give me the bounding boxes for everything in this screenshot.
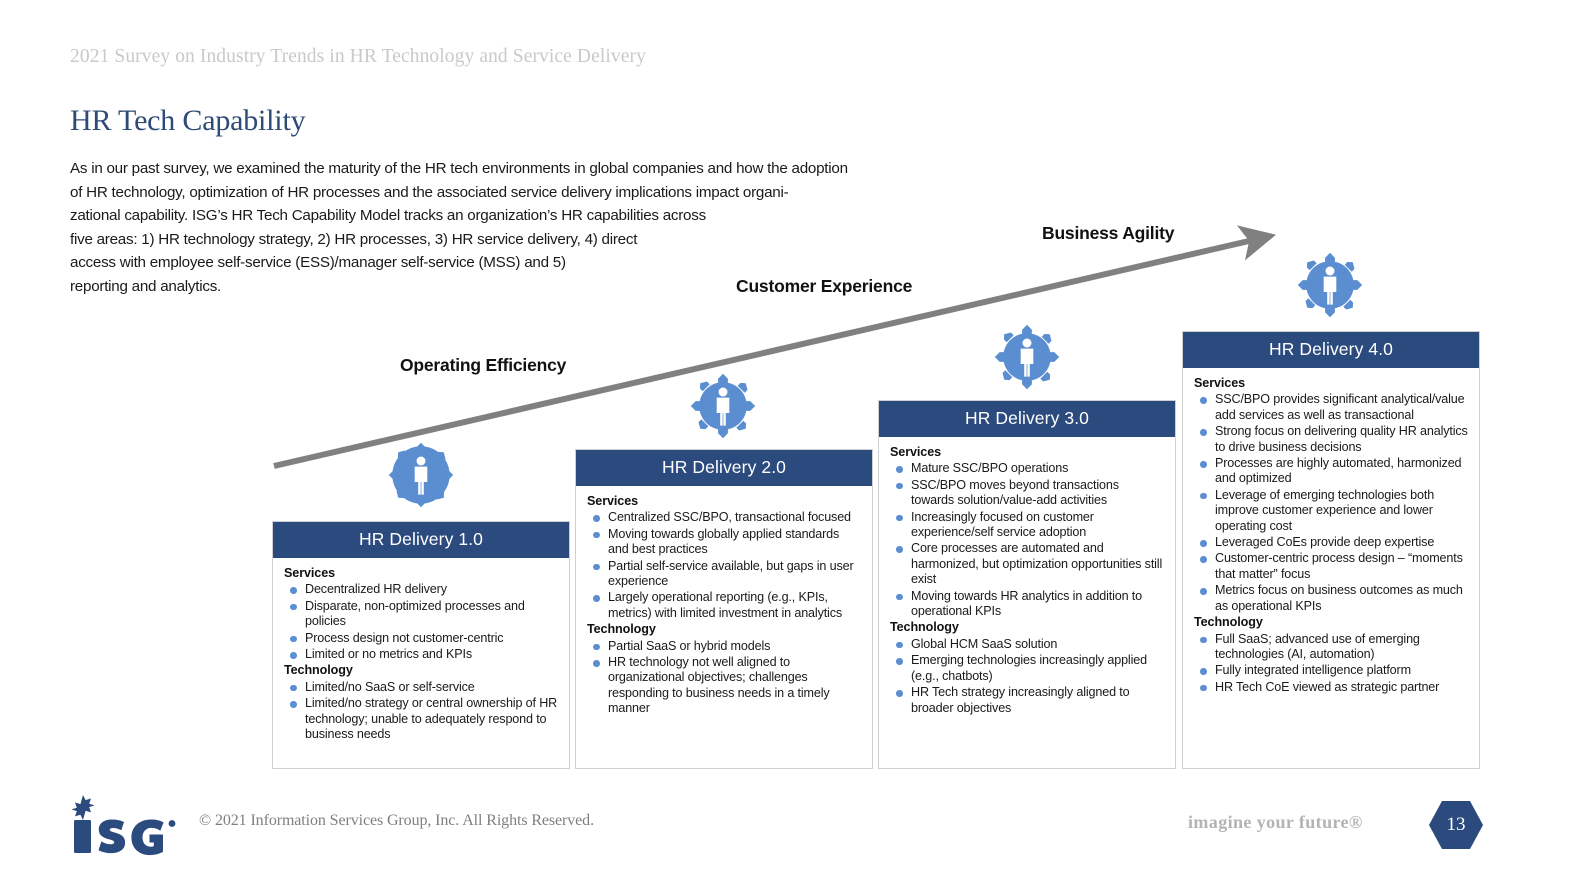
list-item: Full SaaS; advanced use of emerging tech… [1194,632,1469,663]
list-item: Largely operational reporting (e.g., KPI… [587,590,862,621]
card-hr-delivery-2[interactable]: HR Delivery 2.0 Services Centralized SSC… [575,449,873,769]
page-number: 13 [1428,800,1484,850]
page-number-badge: 13 [1428,800,1484,850]
list-item: Core processes are automated and harmoni… [890,541,1165,587]
section-label-services: Services [890,445,1165,460]
services-list: SSC/BPO provides significant analytical/… [1194,392,1469,614]
card-title: HR Delivery 4.0 [1183,332,1479,368]
list-item: Limited/no strategy or central ownership… [284,696,559,742]
section-label-technology: Technology [587,622,862,637]
list-item: Global HCM SaaS solution [890,637,1165,652]
intro-line: five areas: 1) HR technology strategy, 2… [70,228,1010,252]
isg-logo [68,795,186,857]
list-item: Strong focus on delivering quality HR an… [1194,424,1469,455]
list-item: Disparate, non-optimized processes and p… [284,599,559,630]
list-item: Emerging technologies increasingly appli… [890,653,1165,684]
footer-tagline: imagine your future® [1188,812,1363,833]
card-hr-delivery-1[interactable]: HR Delivery 1.0 Services Decentralized H… [272,521,570,769]
card-body: Services Centralized SSC/BPO, transactio… [576,486,872,724]
page-title: HR Tech Capability [70,104,305,138]
list-item: Process design not customer-centric [284,631,559,646]
services-list: Mature SSC/BPO operations SSC/BPO moves … [890,461,1165,619]
gear-person-icon [1295,250,1365,320]
list-item: Limited or no metrics and KPIs [284,647,559,662]
services-list: Decentralized HR delivery Disparate, non… [284,582,559,662]
gear-person-icon [992,322,1062,392]
section-label-services: Services [284,566,559,581]
list-item: Customer-centric process design – “momen… [1194,551,1469,582]
list-item: Partial self-service available, but gaps… [587,559,862,590]
list-item: Increasingly focused on customer experie… [890,510,1165,541]
card-hr-delivery-3[interactable]: HR Delivery 3.0 Services Mature SSC/BPO … [878,400,1176,769]
label-customer-experience: Customer Experience [736,276,912,297]
gear-person-icon [688,371,758,441]
list-item: Fully integrated intelligence platform [1194,663,1469,678]
section-label-technology: Technology [890,620,1165,635]
intro-line: As in our past survey, we examined the m… [70,157,1010,181]
slide-root: 2021 Survey on Industry Trends in HR Tec… [0,0,1584,891]
intro-line: zational capability. ISG’s HR Tech Capab… [70,204,1010,228]
running-header: 2021 Survey on Industry Trends in HR Tec… [70,46,646,68]
card-title: HR Delivery 3.0 [879,401,1175,437]
technology-list: Global HCM SaaS solution Emerging techno… [890,637,1165,716]
card-hr-delivery-4[interactable]: HR Delivery 4.0 Services SSC/BPO provide… [1182,331,1480,769]
list-item: Moving towards globally applied standard… [587,527,862,558]
list-item: Limited/no SaaS or self-service [284,680,559,695]
card-body: Services SSC/BPO provides significant an… [1183,368,1479,702]
intro-line: of HR technology, optimization of HR pro… [70,181,1010,205]
list-item: Leverage of emerging technologies both i… [1194,488,1469,534]
list-item: Processes are highly automated, harmoniz… [1194,456,1469,487]
label-operating-efficiency: Operating Efficiency [400,355,566,376]
list-item: Decentralized HR delivery [284,582,559,597]
section-label-services: Services [587,494,862,509]
list-item: Partial SaaS or hybrid models [587,639,862,654]
list-item: SSC/BPO provides significant analytical/… [1194,392,1469,423]
card-title: HR Delivery 2.0 [576,450,872,486]
technology-list: Limited/no SaaS or self-service Limited/… [284,680,559,743]
footer-copyright: © 2021 Information Services Group, Inc. … [199,812,594,830]
list-item: Moving towards HR analytics in addition … [890,589,1165,620]
list-item: HR Tech CoE viewed as strategic partner [1194,680,1469,695]
intro-line: access with employee self-service (ESS)/… [70,251,1010,275]
card-body: Services Mature SSC/BPO operations SSC/B… [879,437,1175,723]
card-title: HR Delivery 1.0 [273,522,569,558]
section-label-technology: Technology [284,663,559,678]
list-item: HR technology not well aligned to organi… [587,655,862,717]
card-body: Services Decentralized HR delivery Dispa… [273,558,569,749]
section-label-services: Services [1194,376,1469,391]
label-business-agility: Business Agility [1042,223,1174,244]
list-item: HR Tech strategy increasingly aligned to… [890,685,1165,716]
list-item: Leveraged CoEs provide deep expertise [1194,535,1469,550]
list-item: Metrics focus on business outcomes as mu… [1194,583,1469,614]
list-item: Mature SSC/BPO operations [890,461,1165,476]
services-list: Centralized SSC/BPO, transactional focus… [587,510,862,621]
list-item: SSC/BPO moves beyond transactions toward… [890,478,1165,509]
technology-list: Partial SaaS or hybrid models HR technol… [587,639,862,717]
technology-list: Full SaaS; advanced use of emerging tech… [1194,632,1469,696]
list-item: Centralized SSC/BPO, transactional focus… [587,510,862,525]
gear-person-icon [386,440,456,510]
section-label-technology: Technology [1194,615,1469,630]
